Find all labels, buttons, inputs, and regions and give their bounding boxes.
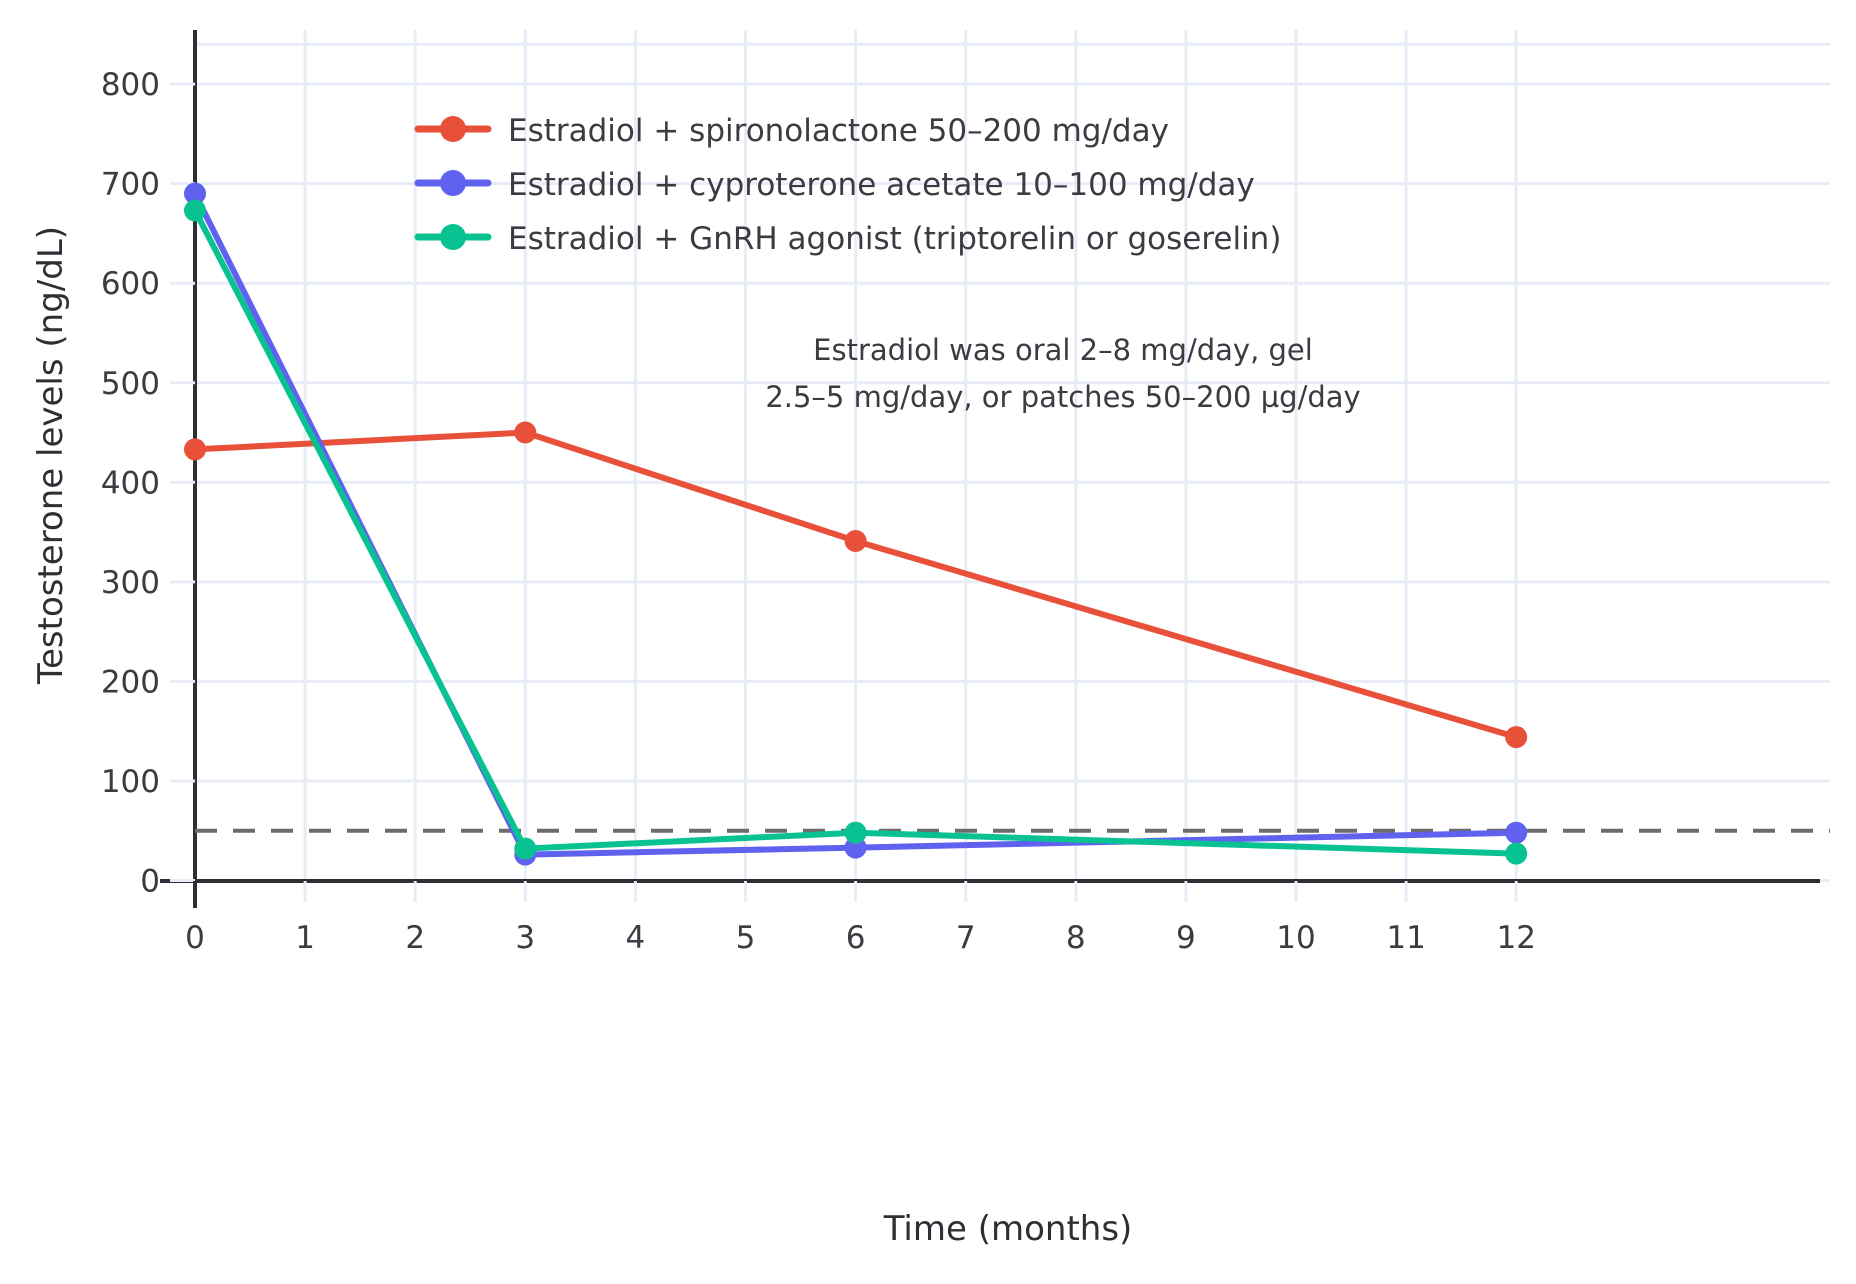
- chart-canvas: 0100200300400500600700800 01234567891011…: [0, 0, 1856, 1284]
- x-tick-labels: 0123456789101112: [185, 920, 1536, 956]
- legend-label-2: Estradiol + GnRH agonist (triptorelin or…: [508, 221, 1281, 257]
- data-point: [845, 822, 867, 844]
- data-point: [1505, 726, 1527, 748]
- y-tick-label: 800: [101, 67, 160, 103]
- x-tick-label: 2: [405, 920, 425, 956]
- x-tick-label: 7: [956, 920, 976, 956]
- x-tick-label: 12: [1496, 920, 1535, 956]
- gridlines: [195, 30, 1830, 881]
- annotation-line-0: Estradiol was oral 2–8 mg/day, gel: [813, 333, 1313, 367]
- x-tick-label: 6: [846, 920, 866, 956]
- data-point: [514, 838, 536, 860]
- x-axis-title: Time (months): [883, 1209, 1133, 1249]
- legend-label-0: Estradiol + spironolactone 50–200 mg/day: [508, 113, 1169, 149]
- testosterone-line-chart: 0100200300400500600700800 01234567891011…: [0, 0, 1856, 1284]
- legend-label-1: Estradiol + cyproterone acetate 10–100 m…: [508, 167, 1255, 203]
- data-point: [514, 422, 536, 444]
- data-point: [184, 200, 206, 222]
- x-tick-label: 1: [295, 920, 315, 956]
- data-point: [1505, 843, 1527, 865]
- y-axis-title: Testosterone levels (ng/dL): [31, 226, 71, 685]
- y-tick-label: 100: [101, 764, 160, 800]
- y-tick-label: 300: [101, 565, 160, 601]
- y-tick-label: 200: [101, 664, 160, 700]
- y-tick-label: 0: [140, 864, 160, 900]
- x-tick-label: 4: [626, 920, 646, 956]
- legend: Estradiol + spironolactone 50–200 mg/day…: [418, 113, 1281, 257]
- x-tick-label: 8: [1066, 920, 1086, 956]
- y-tick-labels: 0100200300400500600700800: [101, 67, 160, 899]
- y-tick-label: 600: [101, 266, 160, 302]
- data-point: [845, 530, 867, 552]
- x-tick-label: 10: [1276, 920, 1315, 956]
- annotation-line-1: 2.5–5 mg/day, or patches 50–200 µg/day: [765, 380, 1360, 414]
- x-tick-label: 5: [736, 920, 756, 956]
- y-tick-label: 500: [101, 366, 160, 402]
- x-tick-label: 0: [185, 920, 205, 956]
- y-tick-label: 400: [101, 465, 160, 501]
- x-tick-marks: [195, 881, 1516, 908]
- x-tick-label: 3: [515, 920, 535, 956]
- legend-swatch-marker-2: [440, 224, 466, 250]
- data-point: [184, 438, 206, 460]
- x-tick-label: 11: [1386, 920, 1425, 956]
- legend-swatch-marker-1: [440, 170, 466, 196]
- x-tick-label: 9: [1176, 920, 1196, 956]
- data-point: [1505, 822, 1527, 844]
- y-tick-label: 700: [101, 167, 160, 203]
- legend-swatch-marker-0: [440, 116, 466, 142]
